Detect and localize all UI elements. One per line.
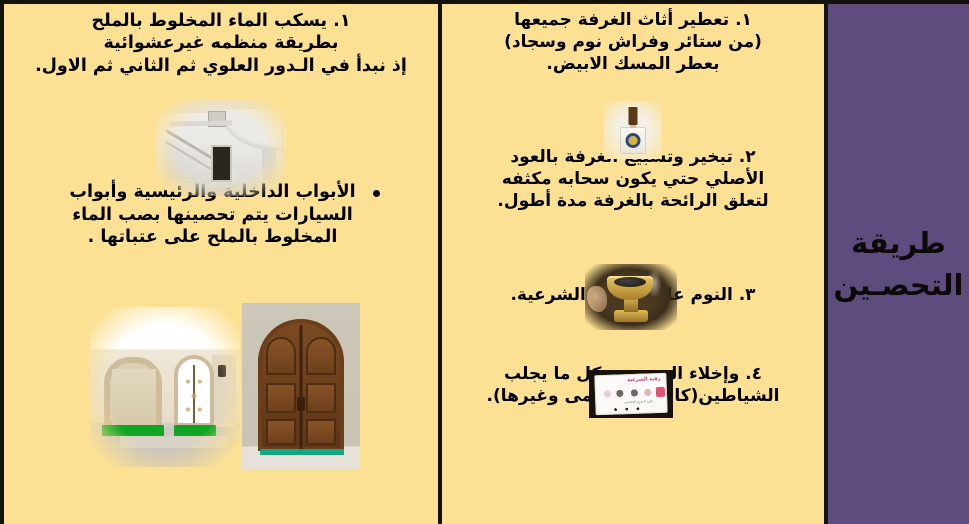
cassette-sublabel: تلاوة الشيخ العفاسي xyxy=(624,399,654,404)
cassette-label: رقية الشرعية xyxy=(627,376,660,383)
right-title-panel: طريقة التحصـين xyxy=(824,4,969,524)
panel-title-line-1: طريقة xyxy=(834,222,964,264)
left-item-1-line-3: إذ نبدأ في الـدور العلوي ثم الثاني ثم ال… xyxy=(14,55,428,77)
bullet-dot-icon xyxy=(373,190,380,197)
mid-item-2-line-3: لتعلق الرائحة بالغرفة مدة أطول. xyxy=(452,191,814,213)
left-item-1-line-2: بطريقة منظمه غيرعشوائية xyxy=(14,32,428,54)
ruqyah-cassette-photo: رقية الشرعية تلاوة الشيخ العفاسي xyxy=(589,370,673,418)
slide-root: ١. يسكب الماء المخلوط بالملح بطريقة منظم… xyxy=(0,0,969,524)
left-item-1-line-1: ١. يسكب الماء المخلوط بالملح xyxy=(14,10,428,32)
panel-title: طريقة التحصـين xyxy=(834,222,964,306)
incense-burner-photo xyxy=(585,264,677,330)
green-threshold-highlight xyxy=(102,425,164,436)
perfume-bottle-photo xyxy=(604,101,662,159)
mid-item-2-line-2: الأصلي حتي يكون سحابه مكثفه xyxy=(452,169,814,191)
mid-item-1-line-2: (من ستائر وفراش نوم وسجاد) xyxy=(452,32,814,54)
garage-gate-photo xyxy=(90,307,240,467)
mid-item-1-text: ١. تعطير أثاث الغرفة جميعها (من ستائر وف… xyxy=(452,10,814,75)
mid-item-1-line-3: بعطر المسك الابيض. xyxy=(452,54,814,76)
mid-item-1-line-1: ١. تعطير أثاث الغرفة جميعها xyxy=(452,10,814,32)
panel-title-line-2: التحصـين xyxy=(834,264,964,306)
left-item-1-text: ١. يسكب الماء المخلوط بالملح بطريقة منظم… xyxy=(14,10,428,77)
green-threshold-highlight xyxy=(174,425,216,436)
wooden-door-photo xyxy=(242,303,360,469)
staircase-foyer-photo xyxy=(156,99,286,196)
left-bullet-1-line-3: المخلوط بالملح على عتباتها . xyxy=(63,226,363,248)
left-bullet-1-line-2: السيارات يتم تحصينها بصب الماء xyxy=(63,204,363,226)
